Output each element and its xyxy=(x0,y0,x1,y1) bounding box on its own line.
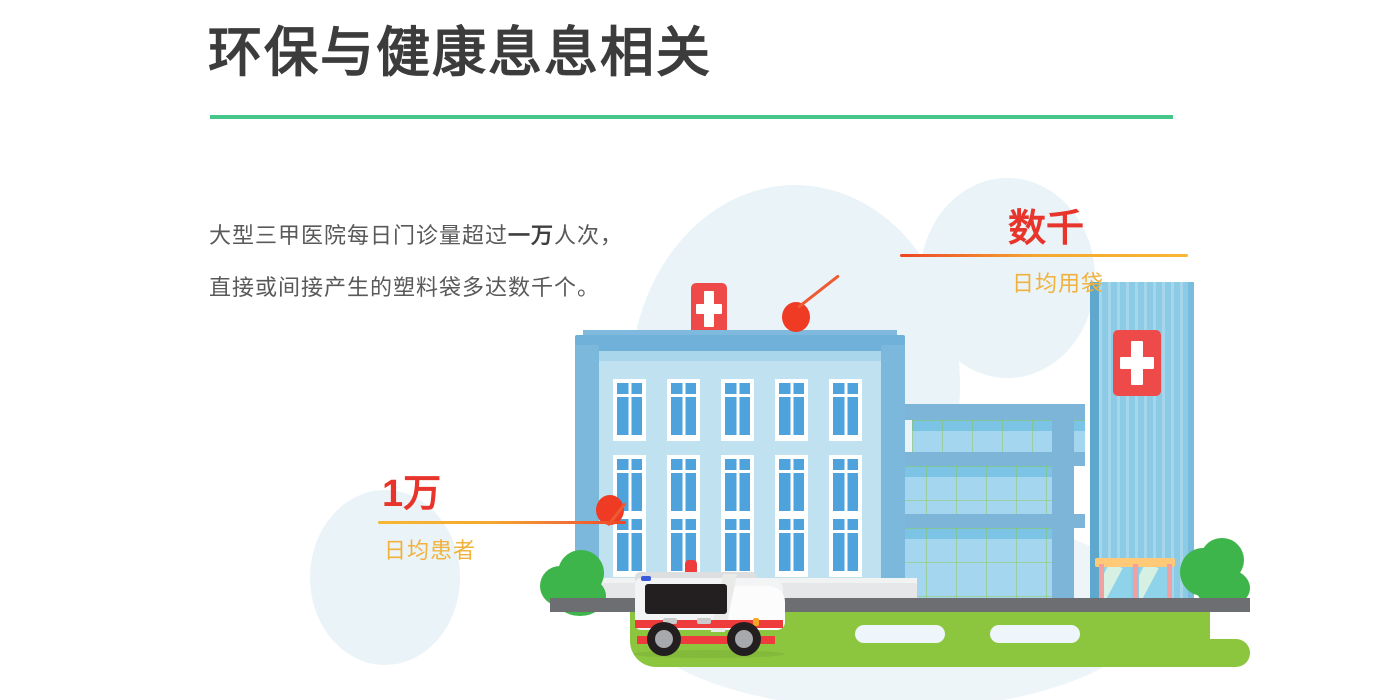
red-cross-sign-icon xyxy=(1113,330,1161,396)
ambulance-blue-marker xyxy=(641,576,651,581)
callout-dot-bags xyxy=(782,302,810,332)
building-window xyxy=(829,379,862,441)
building-window xyxy=(775,455,808,517)
building-window xyxy=(721,455,754,517)
ambulance-window xyxy=(645,584,727,614)
ambulance xyxy=(625,558,793,656)
building-column-right xyxy=(881,345,905,601)
callout-rule xyxy=(900,254,1188,257)
callout-value: 1万 xyxy=(382,475,628,513)
building-window xyxy=(613,379,646,441)
callout-bags: 数千 日均用袋 xyxy=(900,210,1190,298)
title-underline-rule xyxy=(210,115,1173,119)
cross-horizontal xyxy=(1120,357,1154,369)
page-title: 环保与健康息息相关 xyxy=(208,24,712,83)
building-window xyxy=(667,455,700,517)
lane-marking xyxy=(855,625,945,643)
callout-label: 日均患者 xyxy=(384,533,628,565)
red-cross-sign-icon xyxy=(691,283,727,335)
lane-marking xyxy=(990,625,1080,643)
ambulance-door-handle xyxy=(697,618,711,624)
building-window xyxy=(721,379,754,441)
callout-rule xyxy=(378,521,626,524)
cross-horizontal xyxy=(696,304,722,314)
building-top-band xyxy=(593,351,887,361)
wing-pillar-right xyxy=(1052,404,1074,613)
building-window xyxy=(829,455,862,517)
ambulance-wheel xyxy=(647,622,681,656)
building-window xyxy=(775,379,808,441)
callout-patients: 1万 日均患者 xyxy=(378,475,628,565)
building-window xyxy=(667,379,700,441)
ambulance-wheel xyxy=(727,622,761,656)
hospital-illustration: 数千 日均用袋 1万 日均患者 xyxy=(300,150,1400,700)
callout-value: 数千 xyxy=(1008,210,1190,248)
slide-canvas: 环保与健康息息相关 大型三甲医院每日门诊量超过一万人次，直接或间接产生的塑料袋多… xyxy=(0,0,1400,700)
callout-label: 日均用袋 xyxy=(1012,266,1190,298)
building-window xyxy=(829,515,862,577)
building-roof-bar xyxy=(575,335,905,351)
